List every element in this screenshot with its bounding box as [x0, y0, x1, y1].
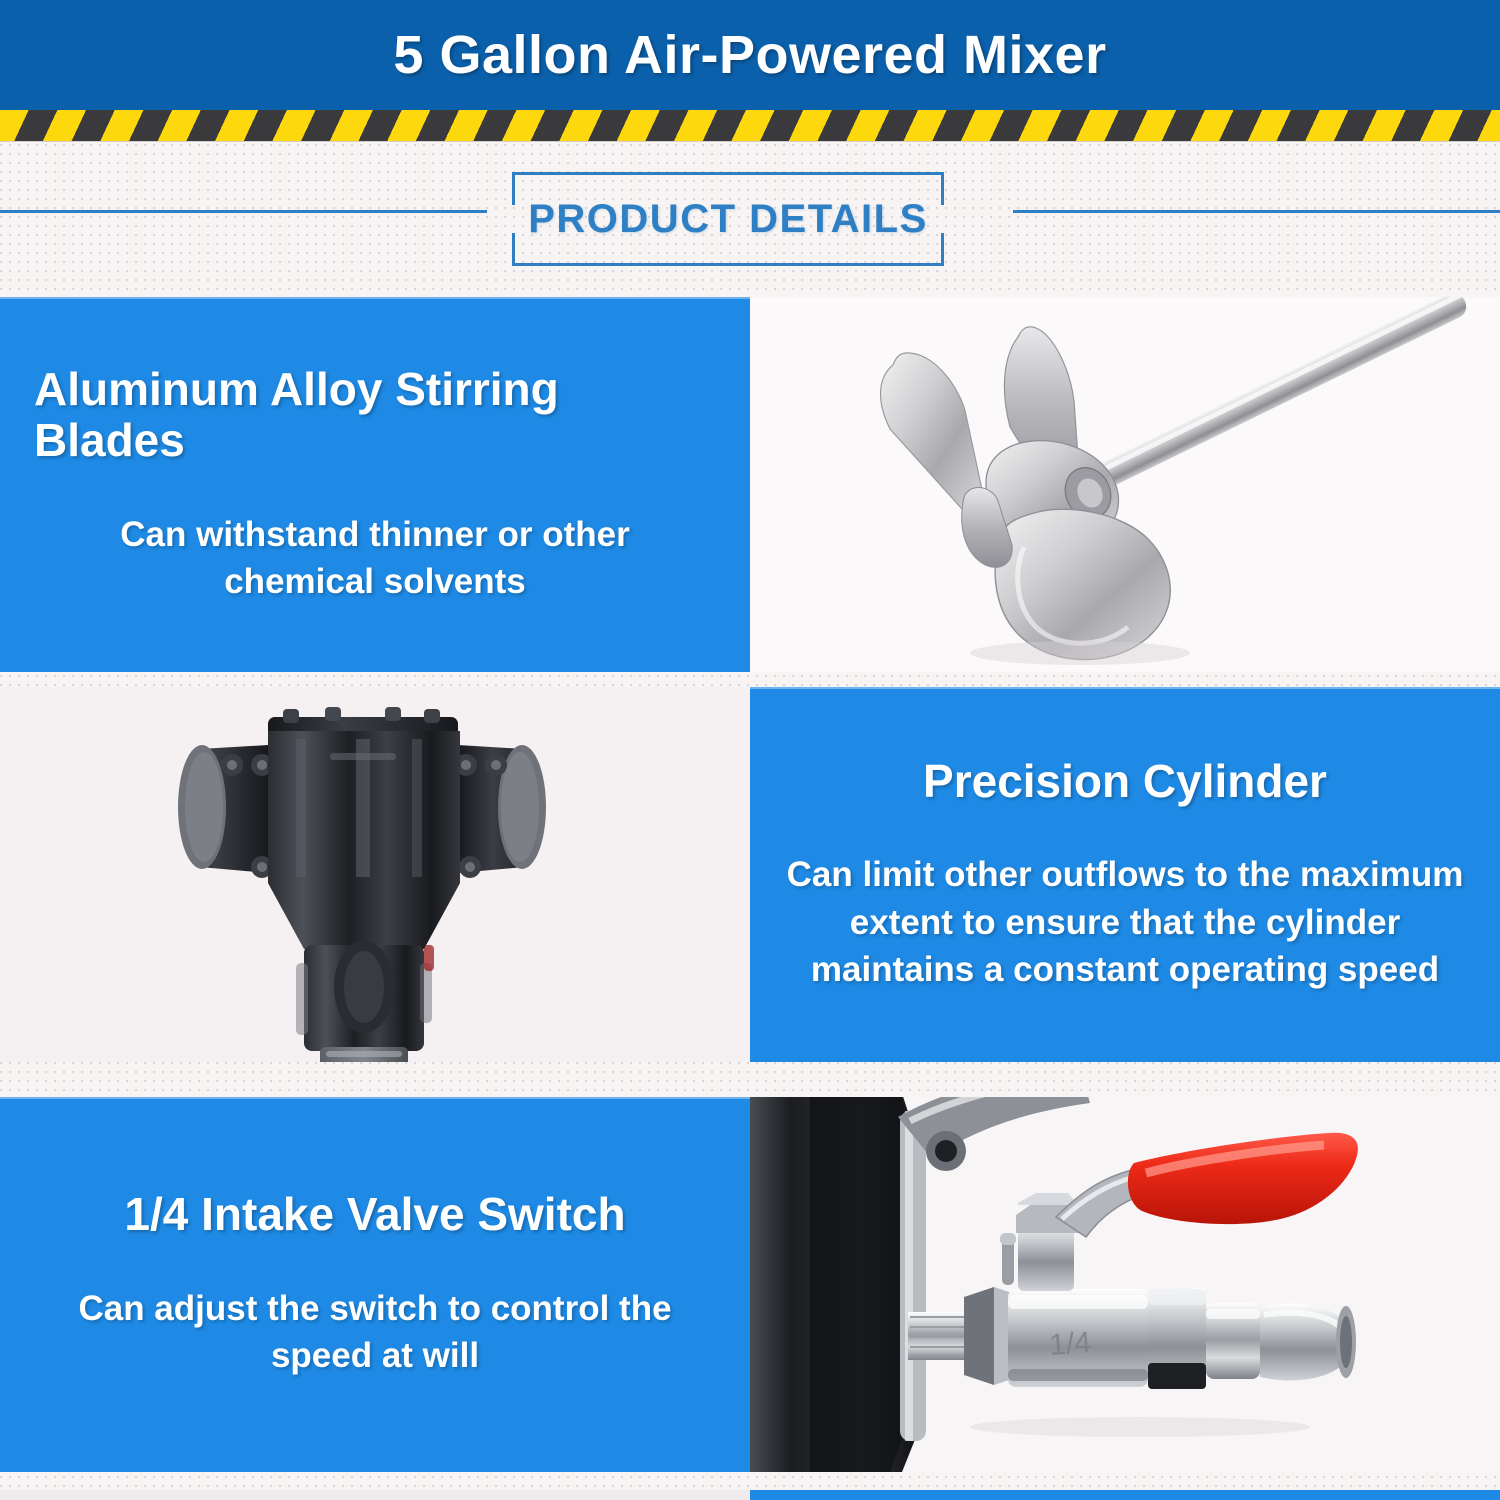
feature-title: Precision Cylinder: [778, 756, 1472, 808]
feature-title: 1/4 Intake Valve Switch: [28, 1189, 722, 1241]
feature-title: Aluminum Alloy Stirring Blades: [28, 364, 722, 467]
stirring-blade-photo: [750, 297, 1500, 672]
feature-row: Precision Cylinder Can limit other outfl…: [0, 687, 1500, 1062]
pneumatic-cylinder-illustration: [0, 687, 750, 1062]
next-section-photo-strip: [0, 1490, 750, 1500]
next-section-blue-strip: [750, 1490, 1500, 1500]
feature-description: Can withstand thinner or other chemical …: [28, 511, 722, 606]
feature-description: Can limit other outflows to the maximum …: [778, 851, 1472, 993]
feature-description: Can adjust the switch to control the spe…: [28, 1285, 722, 1380]
feature-row: 1/4 Intake Valve Switch Can adjust the s…: [0, 1097, 1500, 1472]
stirring-blade-illustration: [750, 297, 1500, 672]
feature-text-panel: 1/4 Intake Valve Switch Can adjust the s…: [0, 1097, 750, 1472]
pneumatic-cylinder-photo: [0, 687, 750, 1062]
feature-row: Aluminum Alloy Stirring Blades Can withs…: [0, 297, 1500, 672]
intake-valve-illustration: 1/4: [750, 1097, 1500, 1472]
feature-rows: Aluminum Alloy Stirring Blades Can withs…: [0, 0, 1500, 1500]
valve-marking-text: 1/4: [1048, 1326, 1092, 1362]
intake-valve-photo: 1/4: [750, 1097, 1500, 1472]
feature-text-panel: Aluminum Alloy Stirring Blades Can withs…: [0, 297, 750, 672]
next-section-strip: [0, 1490, 1500, 1500]
feature-text-panel: Precision Cylinder Can limit other outfl…: [750, 687, 1500, 1062]
